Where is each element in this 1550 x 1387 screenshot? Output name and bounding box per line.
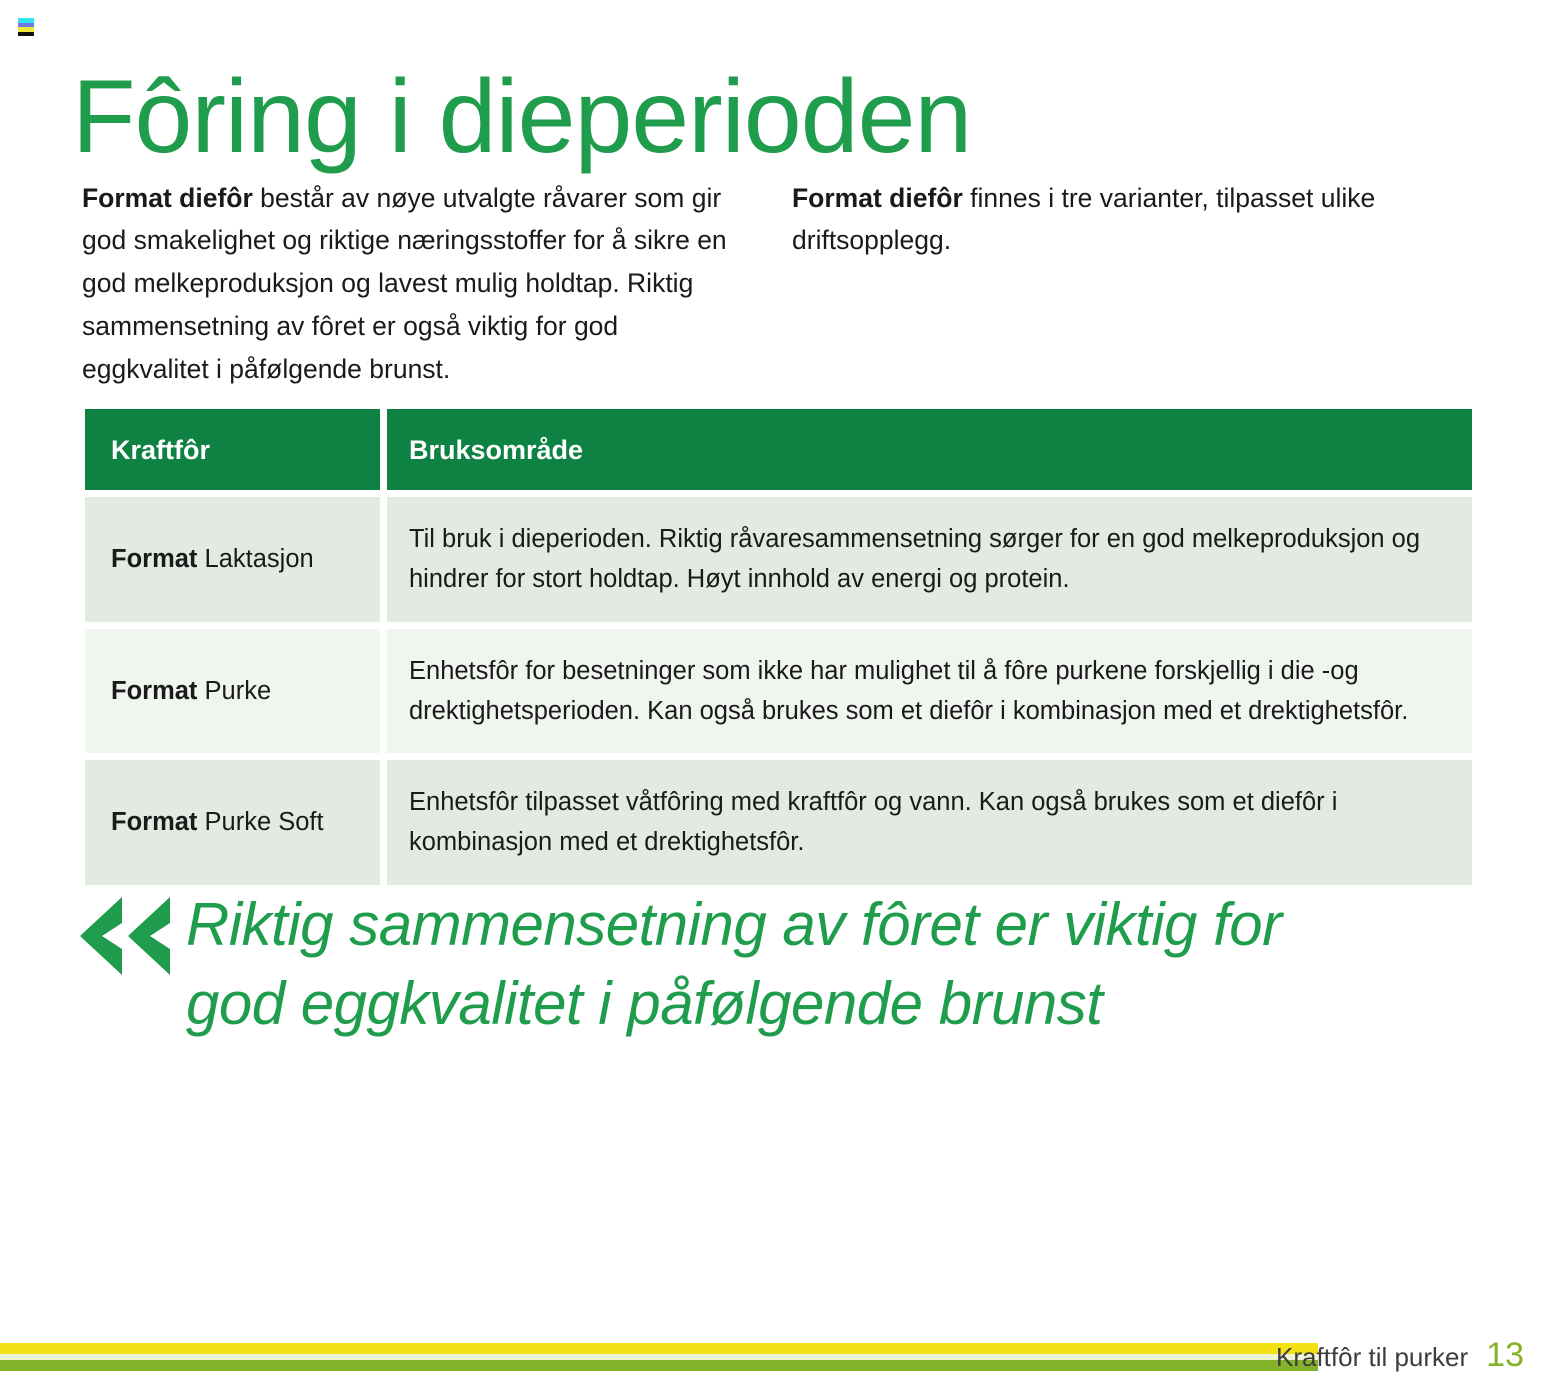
product-brand: Format bbox=[111, 808, 197, 836]
intro-right-lead: Format diefôr bbox=[792, 183, 963, 213]
table-header-bruksomrade: Bruksområde bbox=[387, 409, 1472, 490]
intro-paragraph-left: Format diefôr består av nøye utvalgte rå… bbox=[82, 177, 747, 392]
intro-left-lead: Format diefôr bbox=[82, 183, 253, 213]
double-chevron-left-icon bbox=[78, 897, 174, 975]
footer-section-label: Kraftfôr til purker bbox=[1276, 1342, 1468, 1373]
feed-table: Kraftfôr Bruksområde Format Laktasjon Ti… bbox=[85, 409, 1472, 885]
product-variant: Purke Soft bbox=[197, 808, 323, 836]
table-header-kraftfor: Kraftfôr bbox=[85, 409, 380, 490]
table-row: Format Laktasjon Til bruk i dieperioden.… bbox=[85, 497, 1472, 622]
table-header-row: Kraftfôr Bruksområde bbox=[85, 409, 1472, 490]
footer-meta: Kraftfôr til purker 13 bbox=[1276, 1336, 1524, 1375]
cmyk-color-bar bbox=[18, 18, 34, 36]
intro-paragraph-right: Format diefôr finnes i tre varianter, ti… bbox=[792, 177, 1432, 263]
footer-bar-yellow bbox=[0, 1343, 1318, 1354]
table-cell-name: Format Purke bbox=[85, 629, 380, 754]
table-cell-usage: Enhetsfôr for besetninger som ikke har m… bbox=[387, 629, 1472, 754]
footer-bar-green bbox=[0, 1360, 1318, 1371]
table-row: Format Purke Enhetsfôr for besetninger s… bbox=[85, 629, 1472, 754]
pull-quote: Riktig sammensetning av fôret er viktig … bbox=[78, 885, 1378, 1043]
product-brand: Format bbox=[111, 545, 197, 573]
cmyk-black-swatch bbox=[18, 32, 34, 37]
intro-section: Format diefôr består av nøye utvalgte rå… bbox=[0, 150, 1550, 360]
pull-quote-text: Riktig sammensetning av fôret er viktig … bbox=[78, 885, 1378, 1043]
footer-rule-bars bbox=[0, 1343, 1318, 1371]
footer-page-number: 13 bbox=[1486, 1336, 1524, 1375]
product-variant: Laktasjon bbox=[197, 545, 313, 573]
table-cell-name: Format Laktasjon bbox=[85, 497, 380, 622]
product-variant: Purke bbox=[197, 677, 271, 705]
table-cell-usage: Enhetsfôr tilpasset våtfôring med kraftf… bbox=[387, 760, 1472, 885]
product-brand: Format bbox=[111, 677, 197, 705]
page-footer: Kraftfôr til purker 13 bbox=[0, 1327, 1550, 1387]
table-cell-name: Format Purke Soft bbox=[85, 760, 380, 885]
table-row: Format Purke Soft Enhetsfôr tilpasset vå… bbox=[85, 760, 1472, 885]
table-cell-usage: Til bruk i dieperioden. Riktig råvaresam… bbox=[387, 497, 1472, 622]
